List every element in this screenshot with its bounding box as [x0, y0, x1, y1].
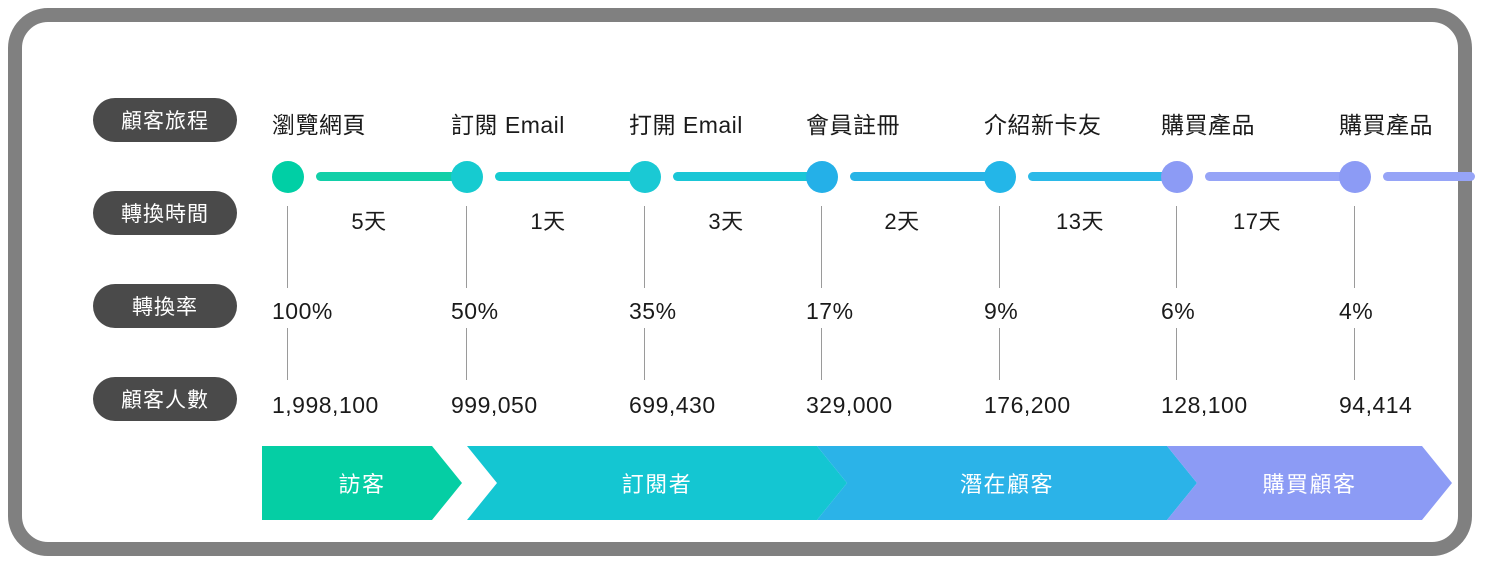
row-label-conversion-time: 轉換時間	[93, 191, 237, 235]
conversion-rate-value: 4%	[1339, 298, 1373, 325]
stage-dot-icon[interactable]	[272, 161, 304, 193]
stage-connector-line	[1028, 172, 1176, 181]
stage-connector-line	[316, 172, 466, 181]
stage-connector-line	[1205, 172, 1353, 181]
funnel-stage-chevron[interactable]: 訂閱者	[467, 446, 847, 520]
customer-count-value: 176,200	[984, 392, 1071, 419]
stage-tick-upper	[821, 206, 822, 288]
funnel-stage-chevron[interactable]: 訪客	[262, 446, 462, 520]
customer-count-value: 999,050	[451, 392, 538, 419]
customer-count-value: 329,000	[806, 392, 893, 419]
row-label-text: 轉換率	[132, 291, 198, 321]
row-label-text: 轉換時間	[121, 198, 209, 228]
customer-count-value: 699,430	[629, 392, 716, 419]
stage-connector-line	[1383, 172, 1475, 181]
conversion-time-value: 3天	[708, 204, 743, 236]
conversion-rate-value: 6%	[1161, 298, 1195, 325]
row-label-customer-journey: 顧客旅程	[93, 98, 237, 142]
row-label-customer-count: 顧客人數	[93, 377, 237, 421]
stage-title: 打開 Email	[629, 106, 743, 140]
funnel-stage-label: 購買顧客	[1262, 467, 1356, 499]
stage-title: 會員註冊	[806, 106, 900, 140]
stage-tick-lower	[1354, 328, 1355, 380]
funnel-stage-label: 訂閱者	[622, 467, 693, 499]
conversion-rate-value: 100%	[272, 298, 333, 325]
stage-tick-upper	[1354, 206, 1355, 288]
stage-dot-icon[interactable]	[984, 161, 1016, 193]
conversion-rate-value: 17%	[806, 298, 854, 325]
funnel-stage-bar: 訪客訂閱者潛在顧客購買顧客	[262, 446, 1452, 520]
stage-connector-line	[850, 172, 998, 181]
conversion-time-value: 17天	[1233, 204, 1281, 236]
stage-tick-upper	[999, 206, 1000, 288]
stage-tick-upper	[1176, 206, 1177, 288]
stage-column[interactable]: 購買產品4%94,414	[1339, 22, 1496, 442]
funnel-stage-chevron[interactable]: 購買顧客	[1167, 446, 1452, 520]
customer-count-value: 128,100	[1161, 392, 1248, 419]
stage-dot-icon[interactable]	[1161, 161, 1193, 193]
conversion-time-value: 5天	[351, 204, 386, 236]
stage-tick-lower	[999, 328, 1000, 380]
funnel-stage-label: 潛在顧客	[960, 467, 1054, 499]
funnel-stage-label: 訪客	[338, 467, 385, 499]
stage-title: 購買產品	[1339, 106, 1433, 140]
device-frame: 顧客旅程 轉換時間 轉換率 顧客人數 瀏覽網頁5天100%1,998,100訂閱…	[8, 8, 1472, 556]
stage-title: 訂閱 Email	[451, 106, 565, 140]
stage-dot-icon[interactable]	[806, 161, 838, 193]
stage-dot-icon[interactable]	[629, 161, 661, 193]
row-label-text: 顧客旅程	[121, 105, 209, 135]
stage-connector-line	[495, 172, 645, 181]
stage-connector-line	[673, 172, 823, 181]
conversion-time-value: 1天	[530, 204, 565, 236]
stage-title: 購買產品	[1161, 106, 1255, 140]
row-label-conversion-rate: 轉換率	[93, 284, 237, 328]
funnel-stage-chevron[interactable]: 潛在顧客	[817, 446, 1197, 520]
conversion-time-value: 13天	[1056, 204, 1104, 236]
stage-title: 瀏覽網頁	[272, 106, 366, 140]
stage-tick-lower	[466, 328, 467, 380]
stage-dot-icon[interactable]	[451, 161, 483, 193]
conversion-rate-value: 9%	[984, 298, 1018, 325]
stage-tick-upper	[466, 206, 467, 288]
stage-tick-lower	[644, 328, 645, 380]
stage-tick-lower	[287, 328, 288, 380]
stage-tick-lower	[821, 328, 822, 380]
stage-title: 介紹新卡友	[984, 106, 1102, 140]
row-label-text: 顧客人數	[121, 384, 209, 414]
conversion-rate-value: 35%	[629, 298, 677, 325]
stage-dot-icon[interactable]	[1339, 161, 1371, 193]
stage-tick-lower	[1176, 328, 1177, 380]
stage-tick-upper	[644, 206, 645, 288]
funnel-diagram-canvas: 顧客旅程 轉換時間 轉換率 顧客人數 瀏覽網頁5天100%1,998,100訂閱…	[22, 22, 1458, 542]
stage-tick-upper	[287, 206, 288, 288]
customer-count-value: 94,414	[1339, 392, 1412, 419]
conversion-rate-value: 50%	[451, 298, 499, 325]
conversion-time-value: 2天	[884, 204, 919, 236]
customer-count-value: 1,998,100	[272, 392, 379, 419]
